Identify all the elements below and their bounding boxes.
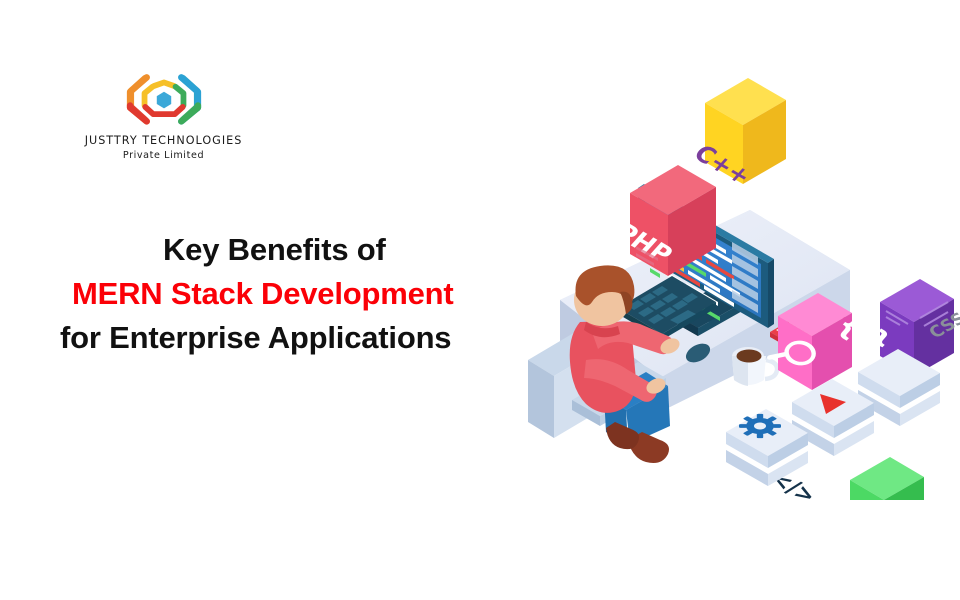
cplusplus-badge: C++ <box>688 78 786 190</box>
company-logo[interactable]: JUSTTRY TECHNOLOGIES Private Limited <box>76 68 251 161</box>
justtry-hexagon-logo <box>119 68 209 130</box>
headline-line-2: MERN Stack Development <box>60 272 560 316</box>
headline-line-1: Key Benefits of <box>60 228 560 272</box>
illustration-svg: PHP C++ <box>520 60 960 500</box>
logo-company-suffix: Private Limited <box>76 150 251 161</box>
banner-canvas: JUSTTRY TECHNOLOGIES Private Limited Key… <box>0 0 960 600</box>
isometric-developer-illustration: PHP C++ <box>520 60 960 500</box>
headline-line-3: for Enterprise Applications <box>60 316 560 360</box>
gear-icon <box>739 414 781 438</box>
headline-block: Key Benefits of MERN Stack Development f… <box>60 228 560 360</box>
logo-company-name: JUSTTRY TECHNOLOGIES <box>76 134 251 147</box>
